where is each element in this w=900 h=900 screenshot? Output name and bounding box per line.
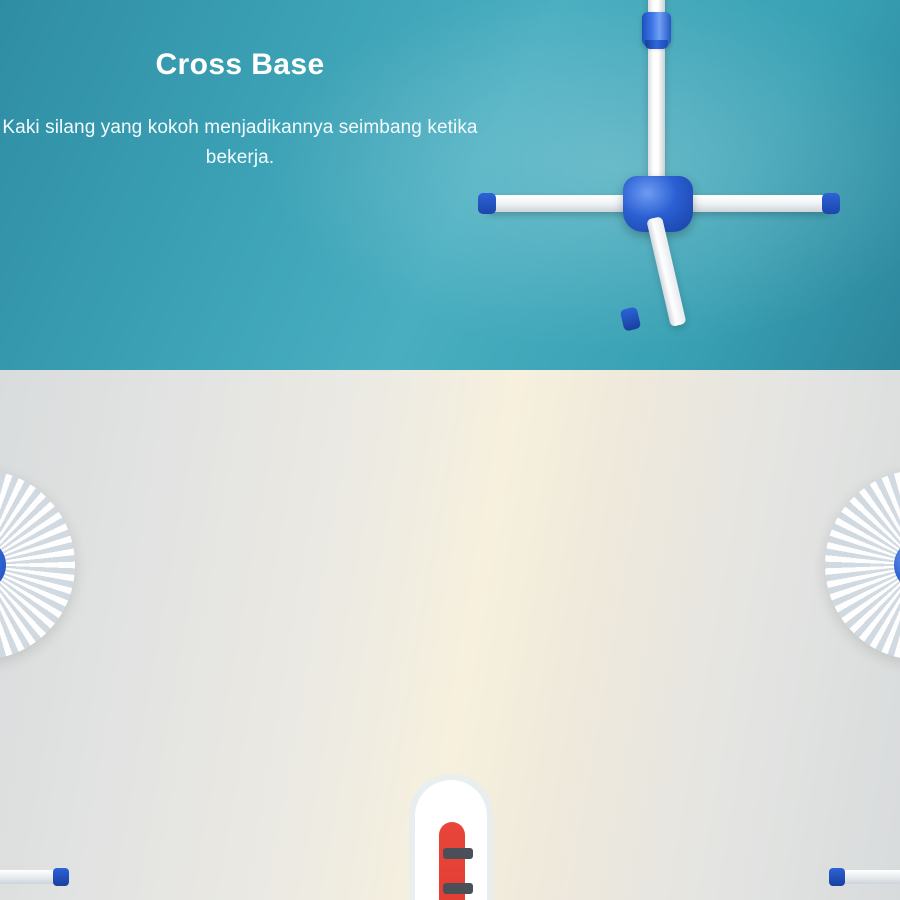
fan-base-cap-shape <box>829 868 845 886</box>
cross-base-stand-icon <box>470 0 890 370</box>
base-end-cap-left-shape <box>478 193 496 214</box>
fan-blade-guard-shape <box>825 470 900 660</box>
stand-fan-left-icon <box>0 470 75 890</box>
thermometer-tick-1-shape <box>443 848 473 859</box>
fan-base-cap-shape <box>53 868 69 886</box>
base-end-cap-right-shape <box>822 193 840 214</box>
stand-fan-right-icon <box>825 470 900 890</box>
cross-base-headline: Cross Base <box>0 48 480 82</box>
fan-blade-guard-shape <box>0 470 75 660</box>
product-infographic-page: Cross Base Kaki silang yang kokoh menjad… <box>0 0 900 900</box>
thermometer-icon <box>415 780 487 900</box>
thermofuse-panel: THERMOFUSE Berfungsi untuk mencegah terj… <box>0 370 900 900</box>
thermometer-tick-2-shape <box>443 883 473 894</box>
cross-base-front-leg-shape <box>646 216 686 327</box>
cross-base-description: Kaki silang yang kokoh menjadikannya sei… <box>0 113 480 173</box>
cross-base-panel: Cross Base Kaki silang yang kokoh menjad… <box>0 0 900 370</box>
pole-collar-shape <box>642 12 671 46</box>
base-end-cap-front-shape <box>620 306 642 331</box>
